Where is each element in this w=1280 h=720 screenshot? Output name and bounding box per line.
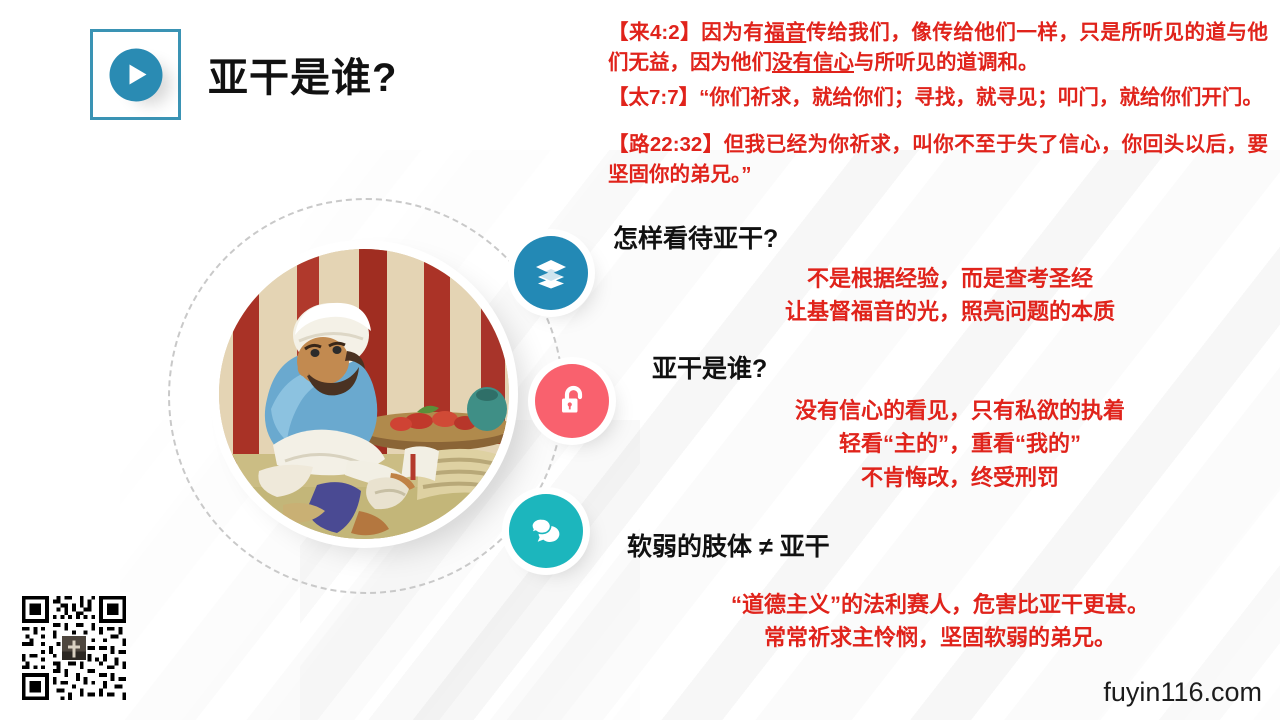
section-2-line-2: 轻看“主的”，重看“我的”	[650, 427, 1270, 460]
verse-1-reference: 【来4:2】	[608, 21, 701, 44]
scripture-verse-1: 【来4:2】因为有福音传给我们，像传给他们一样，只是所听见的道与他们无益，因为他…	[608, 18, 1268, 77]
verse-2-text: “你们祈求，就给你们；寻找，就寻见；叩门，就给你们开门。	[699, 86, 1263, 109]
section-1-line-2: 让基督福音的光，照亮问题的本质	[640, 295, 1260, 328]
play-button-icon	[109, 48, 162, 101]
verse-1-underline-a: 福音	[764, 21, 806, 44]
verse-1-underline-b: 没有信心	[772, 51, 854, 74]
speech-bubbles-icon[interactable]	[509, 494, 583, 568]
section-2-line-1: 没有信心的看见，只有私欲的执着	[650, 394, 1270, 427]
scripture-verse-3: 【路22:32】但我已经为你祈求，叫你不至于失了信心，你回头以后，要坚固你的弟兄…	[608, 130, 1268, 189]
qr-code-graphic	[18, 592, 130, 704]
unlock-icon[interactable]	[535, 364, 609, 438]
play-triangle	[130, 65, 147, 85]
verse-1-text-a: 因为有	[701, 21, 764, 44]
illustration-graphic	[219, 249, 509, 539]
section-1-body: 不是根据经验，而是查考圣经 让基督福音的光，照亮问题的本质	[640, 262, 1260, 329]
section-3-line-1: “道德主义”的法利赛人，危害比亚干更甚。	[630, 588, 1250, 621]
scripture-block: 【来4:2】因为有福音传给我们，像传给他们一样，只是所听见的道与他们无益，因为他…	[608, 18, 1268, 196]
section-3-body: “道德主义”的法利赛人，危害比亚干更甚。 常常祈求主怜悯，坚固软弱的弟兄。	[630, 588, 1250, 655]
achan-illustration	[219, 249, 509, 539]
site-watermark: fuyin116.com	[1103, 677, 1262, 708]
section-3-line-2: 常常祈求主怜悯，坚固软弱的弟兄。	[630, 621, 1250, 654]
layers-glyph	[533, 255, 569, 291]
layers-icon[interactable]	[514, 236, 588, 310]
unlock-glyph	[554, 383, 590, 419]
qr-code[interactable]	[18, 592, 130, 704]
section-3-heading: 软弱的肢体 ≠ 亚干	[627, 527, 830, 563]
verse-2-reference: 【太7:7】	[608, 86, 699, 109]
slide-canvas: 亚干是谁? 【来4:2】因为有福音传给我们，像传给他们一样，只是所听见的道与他们…	[0, 0, 1280, 720]
page-title: 亚干是谁?	[208, 45, 397, 103]
scripture-verse-2: 【太7:7】“你们祈求，就给你们；寻找，就寻见；叩门，就给你们开门。	[608, 83, 1268, 113]
section-2-body: 没有信心的看见，只有私欲的执着 轻看“主的”，重看“我的” 不肯悔改，终受刑罚	[650, 394, 1270, 494]
section-1-line-1: 不是根据经验，而是查考圣经	[640, 262, 1260, 295]
verse-1-text-c: 与所听见的道调和。	[854, 51, 1039, 74]
section-1-heading: 怎样看待亚干?	[613, 219, 778, 255]
section-2-heading: 亚干是谁?	[652, 349, 767, 385]
verse-3-reference: 【路22:32】	[608, 133, 724, 156]
speech-bubbles-glyph	[528, 513, 564, 549]
section-2-line-3: 不肯悔改，终受刑罚	[650, 461, 1270, 494]
brand-logo	[90, 29, 181, 120]
